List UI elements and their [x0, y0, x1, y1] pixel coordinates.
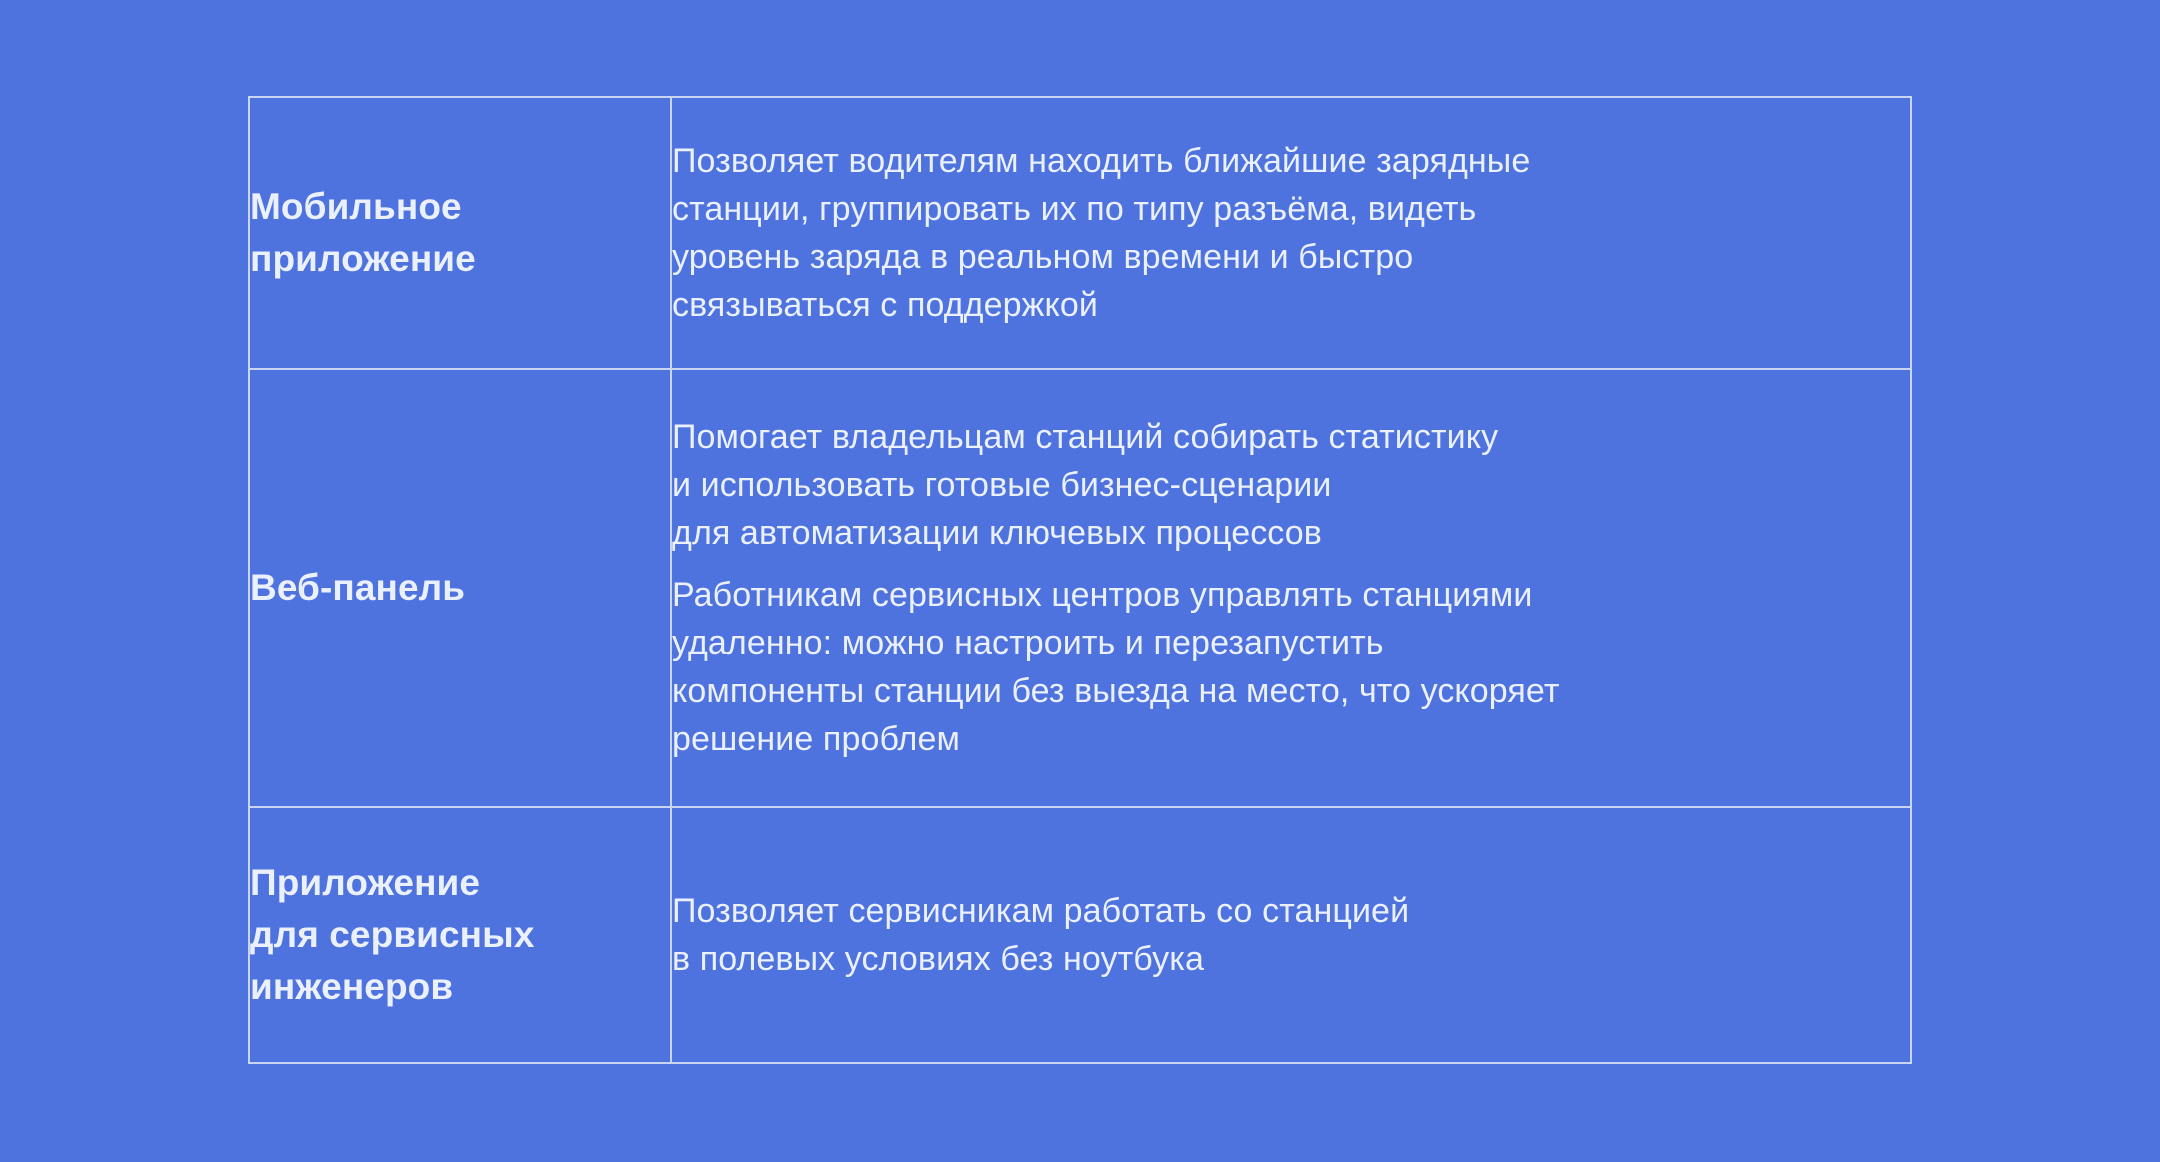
- feature-table: Мобильное приложение Позволяет водителям…: [248, 96, 1912, 1064]
- row-description-paragraph: Работникам сервисных центров управлять с…: [672, 571, 1910, 763]
- row-title-label: Приложение для сервисных инженеров: [250, 857, 670, 1013]
- slide-root: Мобильное приложение Позволяет водителям…: [0, 0, 2160, 1162]
- row-title-cell-mobile-app: Мобильное приложение: [249, 97, 671, 369]
- table-row: Приложение для сервисных инженеров Позво…: [249, 807, 1911, 1063]
- row-description-paragraph: Позволяет сервисникам работать со станци…: [672, 887, 1910, 983]
- row-description-cell-mobile-app: Позволяет водителям находить ближайшие з…: [671, 97, 1911, 369]
- row-description-cell-web-panel: Помогает владельцам станций собирать ста…: [671, 369, 1911, 807]
- table-row: Мобильное приложение Позволяет водителям…: [249, 97, 1911, 369]
- table-row: Веб-панель Помогает владельцам станций с…: [249, 369, 1911, 807]
- row-title-label: Мобильное приложение: [250, 181, 670, 285]
- row-description-cell-service-engineer-app: Позволяет сервисникам работать со станци…: [671, 807, 1911, 1063]
- row-description-paragraph: Помогает владельцам станций собирать ста…: [672, 413, 1910, 557]
- row-title-cell-web-panel: Веб-панель: [249, 369, 671, 807]
- row-title-cell-service-engineer-app: Приложение для сервисных инженеров: [249, 807, 671, 1063]
- row-description-paragraph: Позволяет водителям находить ближайшие з…: [672, 137, 1910, 329]
- feature-table-body: Мобильное приложение Позволяет водителям…: [249, 97, 1911, 1063]
- row-title-label: Веб-панель: [250, 562, 670, 614]
